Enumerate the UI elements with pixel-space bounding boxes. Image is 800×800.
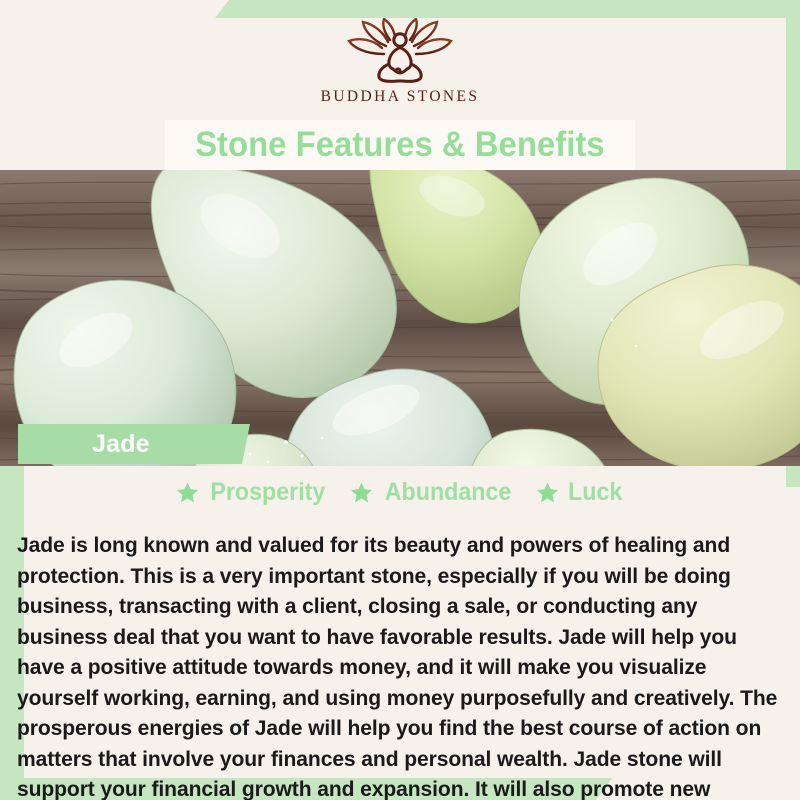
page-title: Stone Features & Benefits — [165, 120, 635, 170]
benefit-label: Prosperity — [210, 478, 325, 507]
stone-name-label: Jade — [18, 424, 250, 464]
page-title-text: Stone Features & Benefits — [195, 125, 605, 165]
benefit-item-luck: Luck — [536, 478, 624, 507]
decorative-top-band — [215, 0, 800, 18]
stone-description: Jade is long known and valued for its be… — [17, 530, 777, 800]
benefit-item-prosperity: Prosperity — [176, 478, 330, 507]
benefit-label: Abundance — [384, 478, 511, 507]
brand-name: BUDDHA STONES — [321, 88, 480, 106]
star-icon — [350, 481, 373, 504]
benefit-label: Luck — [568, 478, 622, 507]
stone-name-text: Jade — [92, 430, 150, 459]
star-icon — [536, 481, 559, 504]
star-icon — [176, 481, 199, 504]
stone-photo — [0, 170, 800, 466]
brand-logo: BUDDHA STONES — [0, 18, 800, 118]
stone-info-poster: BUDDHA STONES Stone Features & Benefits — [0, 0, 800, 800]
benefit-item-abundance: Abundance — [350, 478, 516, 507]
lotus-meditation-icon — [340, 18, 460, 84]
benefits-list: Prosperity Abundance Luck — [0, 478, 800, 507]
